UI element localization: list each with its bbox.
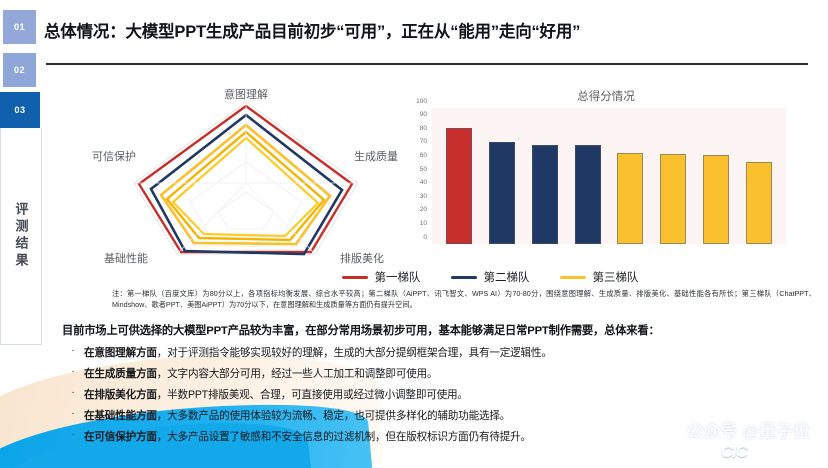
slide: 01 02 03 评测结果 总体情况：大模型PPT生成产品目前初步“可用”，正在… bbox=[0, 0, 828, 468]
bullet-heading: 在基础性能方面 bbox=[84, 408, 157, 423]
radar-axis-label-intent: 意图理解 bbox=[224, 86, 268, 102]
bullet-marker-icon: · bbox=[62, 366, 84, 377]
body-bullet-item: ·在排版美化方面，半数PPT排版美观、合理，可直接使用或经过微小调整即可使用。 bbox=[62, 387, 814, 402]
sidebar-active-panel: 评测结果 bbox=[0, 128, 42, 345]
bar bbox=[660, 154, 686, 244]
logo-mark: CIC bbox=[721, 442, 747, 462]
y-axis-tick: 20 bbox=[420, 207, 427, 214]
sidebar-item-02-label: 02 bbox=[14, 65, 25, 75]
body-bullet-item: ·在可信保护方面，大多产品设置了敏感和不安全信息的过滤机制，但在版权标识方面仍有… bbox=[62, 429, 814, 444]
logo-text: 工信安全 bbox=[752, 442, 812, 462]
bar bbox=[446, 128, 472, 244]
bar bbox=[617, 153, 643, 244]
bullet-text: ，大多数产品的使用体验较为流畅、稳定，也可提供多样化的辅助功能选择。 bbox=[157, 408, 510, 423]
body-bullet-item: ·在基础性能方面，大多数产品的使用体验较为流畅、稳定，也可提供多样化的辅助功能选… bbox=[62, 408, 814, 423]
radar-axis-label-quality: 生成质量 bbox=[354, 148, 398, 164]
bullet-text: ，大多产品设置了敏感和不安全信息的过滤机制，但在版权标识方面仍有待提升。 bbox=[157, 429, 531, 444]
legend-label: 第三梯队 bbox=[593, 269, 639, 285]
y-axis-tick: 10 bbox=[420, 221, 427, 228]
legend-item[interactable]: 第三梯队 bbox=[560, 269, 639, 285]
radar-axis-label-layout: 排版美化 bbox=[340, 250, 384, 266]
bar bbox=[575, 145, 601, 244]
y-axis-tick: 70 bbox=[420, 139, 427, 146]
chart-footnote: 注：第一梯队（百度文库）为80分以上，各项指标均衡发展、综合水平较高；第二梯队（… bbox=[112, 288, 816, 310]
body-bullet-list: ·在意图理解方面，对于评测指令能够实现较好的理解，生成的大部分提纲框架合理，具有… bbox=[62, 345, 814, 444]
bar-chart-bars bbox=[432, 108, 786, 244]
legend-label: 第二梯队 bbox=[484, 269, 530, 285]
legend-label: 第一梯队 bbox=[375, 269, 421, 285]
brand-logo: CIC 工信安全 bbox=[721, 442, 812, 462]
y-axis-tick: 90 bbox=[420, 112, 427, 119]
sidebar-item-03-label: 03 bbox=[14, 105, 25, 115]
bullet-marker-icon: · bbox=[62, 408, 84, 419]
radar-axis-label-performance: 基础性能 bbox=[104, 250, 148, 266]
sidebar: 01 02 03 评测结果 bbox=[0, 0, 42, 400]
legend-swatch bbox=[342, 276, 368, 279]
bullet-marker-icon: · bbox=[62, 429, 84, 440]
bar-chart: 总得分情况 0102030405060708090100 bbox=[404, 86, 808, 266]
bullet-marker-icon: · bbox=[62, 387, 84, 398]
bar bbox=[489, 142, 515, 244]
title-divider bbox=[46, 63, 808, 65]
sidebar-item-01[interactable]: 01 bbox=[3, 10, 36, 44]
y-axis-tick: 0 bbox=[423, 234, 427, 241]
radar-axis-label-trust: 可信保护 bbox=[92, 148, 136, 164]
bullet-text: ，文字内容大部分可用，经过一些人工加工和调整即可使用。 bbox=[157, 366, 438, 381]
body-bullet-item: ·在生成质量方面，文字内容大部分可用，经过一些人工加工和调整即可使用。 bbox=[62, 366, 814, 381]
body-lead: 目前市场上可供选择的大模型PPT产品较为丰富，在部分常用场景初步可用，基本能够满… bbox=[62, 322, 814, 338]
radar-chart: 意图理解 生成质量 排版美化 基础性能 可信保护 bbox=[96, 78, 396, 268]
bar bbox=[746, 162, 772, 244]
bullet-marker-icon: · bbox=[62, 345, 84, 356]
bar-chart-y-axis: 0102030405060708090100 bbox=[404, 108, 430, 244]
sidebar-item-02[interactable]: 02 bbox=[3, 53, 36, 87]
radar-chart-svg bbox=[118, 92, 374, 260]
bar-chart-plot-area bbox=[432, 108, 786, 244]
y-axis-tick: 60 bbox=[420, 153, 427, 160]
bullet-heading: 在生成质量方面 bbox=[84, 366, 157, 381]
bullet-text: ，对于评测指令能够实现较好的理解，生成的大部分提纲框架合理，具有一定逻辑性。 bbox=[157, 345, 552, 360]
legend-swatch bbox=[560, 276, 586, 279]
legend-swatch bbox=[451, 276, 477, 279]
y-axis-tick: 50 bbox=[420, 166, 427, 173]
y-axis-tick: 40 bbox=[420, 180, 427, 187]
bullet-heading: 在意图理解方面 bbox=[84, 345, 157, 360]
legend-item[interactable]: 第二梯队 bbox=[451, 269, 530, 285]
legend-item[interactable]: 第一梯队 bbox=[342, 269, 421, 285]
page-title: 总体情况：大模型PPT生成产品目前初步“可用”，正在从“能用”走向“好用” bbox=[44, 18, 808, 42]
y-axis-tick: 100 bbox=[416, 98, 427, 105]
bar bbox=[532, 145, 558, 244]
sidebar-active-label: 评测结果 bbox=[12, 202, 31, 270]
bar bbox=[703, 155, 729, 244]
body-copy: 目前市场上可供选择的大模型PPT产品较为丰富，在部分常用场景初步可用，基本能够满… bbox=[62, 322, 814, 450]
chart-legend: 第一梯队第二梯队第三梯队 bbox=[255, 268, 725, 286]
bullet-heading: 在排版美化方面 bbox=[84, 387, 157, 402]
body-bullet-item: ·在意图理解方面，对于评测指令能够实现较好的理解，生成的大部分提纲框架合理，具有… bbox=[62, 345, 814, 360]
sidebar-item-03[interactable]: 03 bbox=[0, 92, 40, 128]
bar-chart-title: 总得分情况 bbox=[404, 88, 808, 104]
sidebar-item-01-label: 01 bbox=[14, 22, 25, 32]
y-axis-tick: 80 bbox=[420, 125, 427, 132]
y-axis-tick: 30 bbox=[420, 193, 427, 200]
bullet-heading: 在可信保护方面 bbox=[84, 429, 157, 444]
bullet-text: ，半数PPT排版美观、合理，可直接使用或经过微小调整即可使用。 bbox=[157, 387, 468, 402]
